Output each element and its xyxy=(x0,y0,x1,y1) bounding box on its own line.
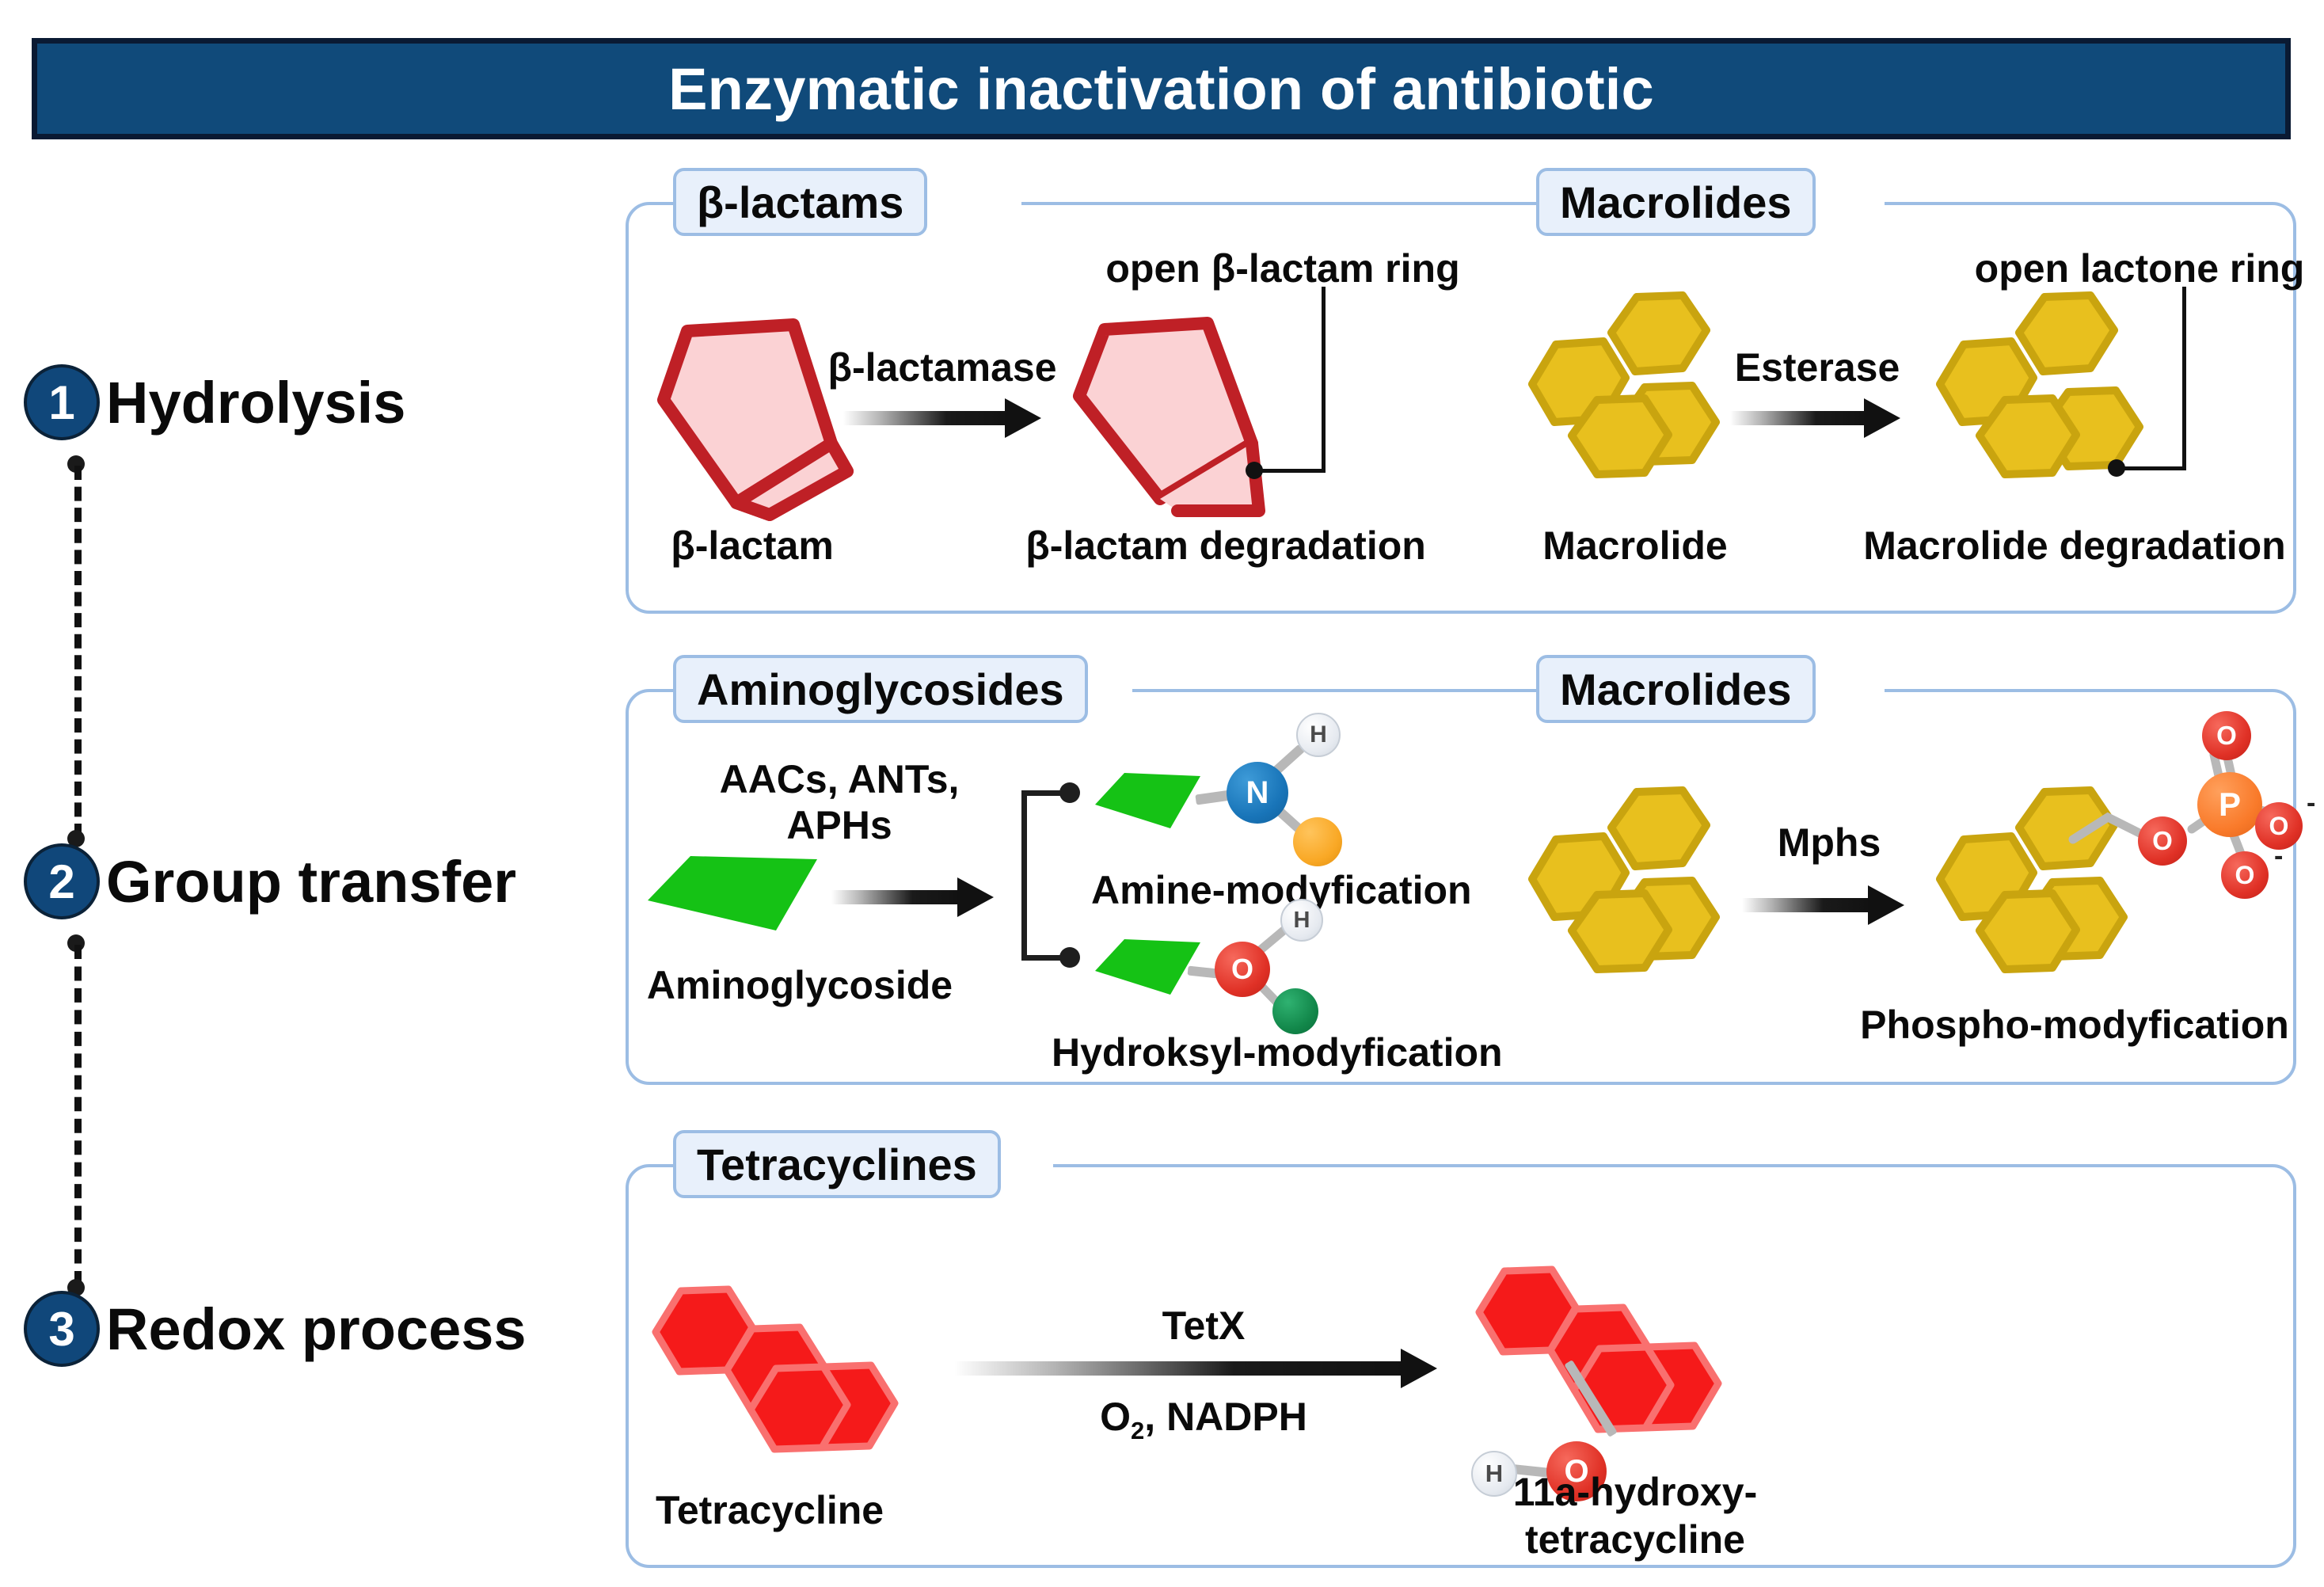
label-cofactors: O2, NADPH xyxy=(1100,1394,1307,1445)
callout-line-h-betalactam xyxy=(1254,469,1326,473)
step-item-3[interactable]: 3 Redox process xyxy=(24,1291,527,1367)
branch-bracket-arm-top xyxy=(1021,790,1065,796)
label-hydroxyl-modification: Hydroksyl-modyfication xyxy=(1052,1029,1503,1075)
label-aminoglycoside: Aminoglycoside xyxy=(647,962,953,1008)
tab-macrolides-group-transfer[interactable]: Macrolides xyxy=(1536,655,1816,723)
step-badge-1: 1 xyxy=(24,364,100,440)
label-amine-modification: Amine-modyfication xyxy=(1091,867,1472,913)
tab-tetracyclines-label: Tetracyclines xyxy=(697,1139,977,1190)
tab-macrolides-hydrolysis-label: Macrolides xyxy=(1560,177,1792,228)
label-betalactam: β-lactam xyxy=(671,523,834,569)
atom-hydrogen-hydroxy-tetracycline: H xyxy=(1471,1451,1517,1497)
arrow-aminoglycoside-modification xyxy=(831,887,994,908)
tab-aminoglycosides-label: Aminoglycosides xyxy=(697,664,1064,715)
atom-oxygen-anion-2: O xyxy=(2221,851,2269,899)
label-hydroxy-tetracycline-line1: 11a-hydroxy- xyxy=(1513,1469,1757,1515)
tab-macrolides-hydrolysis[interactable]: Macrolides xyxy=(1536,168,1816,236)
rail-dash-1-2 xyxy=(74,466,82,838)
arrow-mphs xyxy=(1742,895,1904,915)
atom-hydrogen-amine: H xyxy=(1296,713,1341,757)
label-tetx-enzyme: TetX xyxy=(1162,1303,1246,1349)
label-macrolide-degradation: Macrolide degradation xyxy=(1863,523,2285,569)
callout-line-v-macrolide xyxy=(2182,287,2186,468)
step-label-2: Group transfer xyxy=(106,848,516,915)
atom-phosphorus: P xyxy=(2197,772,2262,837)
cofactor-o-subscript: 2 xyxy=(1131,1417,1144,1444)
atom-hydrogen-hydroxyl: H xyxy=(1280,899,1323,942)
label-tetracycline: Tetracycline xyxy=(656,1487,884,1533)
cofactor-nadph: , NADPH xyxy=(1144,1395,1307,1439)
hydroxy-tetracycline-molecule-icon xyxy=(1473,1263,1774,1469)
label-aac-ant-enzymes-line1: AACs, ANTs, xyxy=(720,756,960,802)
aminoglycoside-molecule-icon xyxy=(641,851,823,938)
macrolide-degraded-molecule-icon xyxy=(1932,305,2170,515)
atom-oxygen-hydroxyl: O xyxy=(1215,942,1270,997)
callout-line-h-macrolide xyxy=(2117,466,2186,470)
step-badge-2: 2 xyxy=(24,843,100,919)
label-macrolide: Macrolide xyxy=(1542,523,1727,569)
tab-aminoglycosides[interactable]: Aminoglycosides xyxy=(673,655,1088,723)
arrow-esterase xyxy=(1730,408,1900,428)
callout-open-betalactam-ring: open β-lactam ring xyxy=(1105,245,1459,291)
step-badge-3: 3 xyxy=(24,1291,100,1367)
macrolide-molecule-icon xyxy=(1524,305,1746,515)
atom-adenylyl-group xyxy=(1272,988,1318,1034)
label-phospho-modification: Phospho-modyfication xyxy=(1860,1002,2289,1048)
page-title: Enzymatic inactivation of antibiotic xyxy=(668,55,1654,123)
tab-macrolides-group-transfer-label: Macrolides xyxy=(1560,664,1792,715)
atom-oxygen-ester: O xyxy=(2138,816,2187,866)
step-item-1[interactable]: 1 Hydrolysis xyxy=(24,364,405,440)
betalactam-molecule-icon xyxy=(649,309,855,523)
cofactor-o: O xyxy=(1100,1395,1131,1439)
label-esterase-enzyme: Esterase xyxy=(1735,344,1900,390)
branch-dot-top xyxy=(1059,782,1080,803)
hydroxyl-green-fragment-icon xyxy=(1091,933,1202,1004)
tab-betalactams[interactable]: β-lactams xyxy=(673,168,927,236)
label-betalactamase-enzyme: β-lactamase xyxy=(827,344,1056,390)
amine-green-fragment-icon xyxy=(1091,767,1202,838)
atom-acyl-group xyxy=(1293,817,1342,866)
branch-bracket-arm-bottom xyxy=(1021,955,1065,961)
tab-tetracyclines[interactable]: Tetracyclines xyxy=(673,1130,1001,1198)
tab-betalactams-label: β-lactams xyxy=(697,177,903,228)
step-label-3: Redox process xyxy=(106,1296,527,1363)
header-bar: Enzymatic inactivation of antibiotic xyxy=(32,38,2291,139)
macrolide-molecule-icon-2 xyxy=(1524,800,1746,1010)
atom-oxygen-double: O xyxy=(2202,711,2251,760)
branch-dot-bottom xyxy=(1059,947,1080,968)
label-mphs-enzyme: Mphs xyxy=(1778,820,1881,866)
callout-line-v-betalactam xyxy=(1322,287,1326,470)
step-item-2[interactable]: 2 Group transfer xyxy=(24,843,516,919)
step-label-1: Hydrolysis xyxy=(106,369,405,436)
callout-open-lactone-ring: open lactone ring xyxy=(1975,245,2305,291)
arrow-betalactamase xyxy=(843,408,1041,428)
tetracycline-molecule-icon xyxy=(649,1283,934,1481)
rail-dash-2-3 xyxy=(74,945,82,1285)
betalactam-degraded-molecule-icon xyxy=(1065,309,1287,531)
label-hydroxy-tetracycline-line2: tetracycline xyxy=(1525,1517,1745,1562)
arrow-tetx xyxy=(954,1358,1437,1379)
label-aph-enzymes-line2: APHs xyxy=(786,802,892,848)
label-betalactam-degradation: β-lactam degradation xyxy=(1025,523,1426,569)
charge-label-1: - xyxy=(2307,788,2315,819)
atom-nitrogen: N xyxy=(1227,762,1288,824)
charge-label-2: - xyxy=(2274,841,2283,872)
branch-bracket-spine xyxy=(1021,790,1027,961)
